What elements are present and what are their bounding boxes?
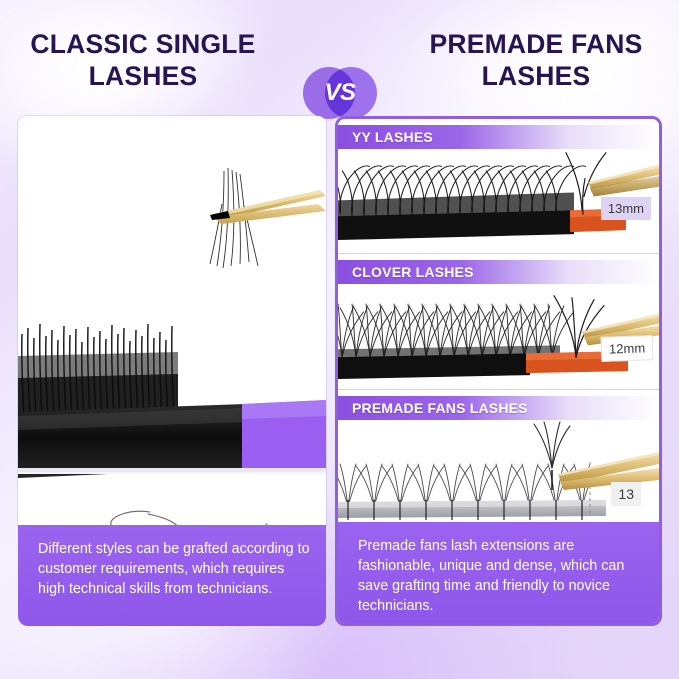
clover-lashes-label-bar: CLOVER LASHES [338, 260, 659, 284]
yy-lashes-label: YY LASHES [338, 129, 433, 145]
right-panel-caption: Premade fans lash extensions are fashion… [338, 522, 659, 623]
yy-lashes-measurement: 13mm [601, 197, 651, 220]
classic-lash-photo [18, 116, 326, 525]
clover-lashes-label: CLOVER LASHES [338, 264, 474, 280]
product-comparison-graphic: CLASSIC SINGLE LASHES VS PREMADE FANS LA… [0, 0, 679, 679]
left-panel-title: CLASSIC SINGLE LASHES [8, 28, 278, 92]
left-panel: Different styles can be grafted accordin… [18, 116, 326, 626]
header: CLASSIC SINGLE LASHES VS PREMADE FANS LA… [0, 28, 679, 108]
vs-badge: VS [303, 67, 377, 119]
left-panel-caption: Different styles can be grafted accordin… [18, 525, 326, 626]
premade-fans-lashes-measurement: 13 [611, 482, 641, 506]
yy-lashes-label-bar: YY LASHES [338, 125, 659, 149]
vs-label: VS [303, 67, 377, 119]
premade-fans-lashes-label: PREMADE FANS LASHES [338, 400, 528, 416]
right-panel-title: PREMADE FANS LASHES [401, 28, 671, 92]
section-yy-lashes: YY LASHES 13mm [338, 119, 659, 254]
section-premade-fans-lashes: PREMADE FANS LASHES 13 [338, 390, 659, 527]
classic-single-lash-illustration [18, 116, 326, 525]
premade-fans-lashes-label-bar: PREMADE FANS LASHES [338, 396, 659, 420]
clover-lashes-measurement: 12mm [600, 335, 653, 362]
section-clover-lashes: CLOVER LASHES 12mm [338, 254, 659, 390]
right-panel: YY LASHES 13mm [335, 116, 662, 626]
